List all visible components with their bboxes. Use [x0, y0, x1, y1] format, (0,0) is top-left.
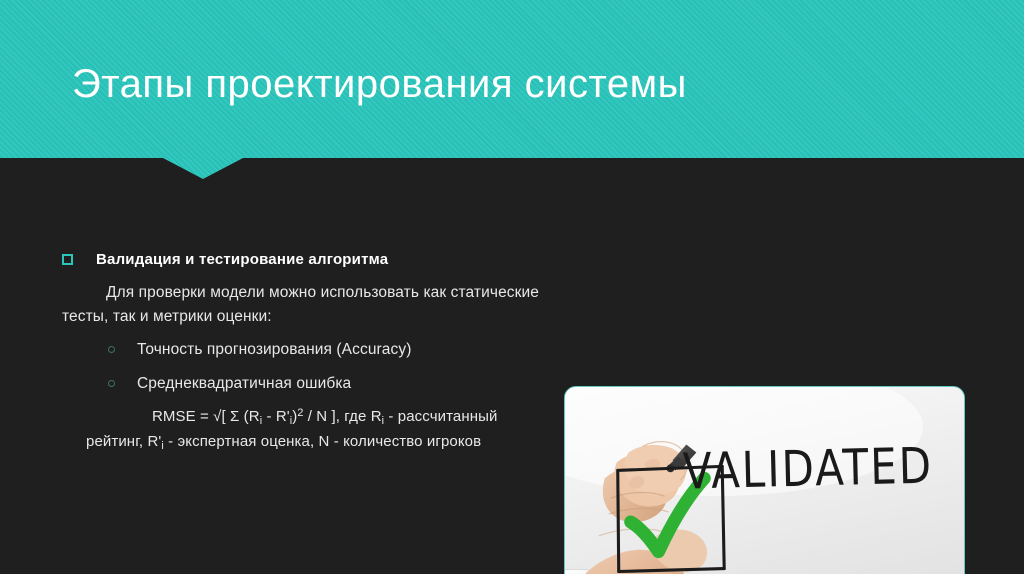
validated-photo: [565, 387, 964, 574]
validated-image-frame: VALIDATED: [564, 386, 965, 574]
intro-paragraph: Для проверки модели можно использовать к…: [62, 281, 542, 329]
list-item-level2: Точность прогнозирования (Accuracy): [108, 339, 542, 361]
square-bullet-icon: [62, 254, 73, 265]
page-title: Этапы проектирования системы: [72, 60, 952, 108]
formula-power: 2: [297, 407, 303, 419]
list-item-level2-label: Точность прогнозирования (Accuracy): [137, 339, 412, 361]
formula-expression: √[ Σ (R: [213, 408, 260, 425]
formula-sub-3: i: [382, 415, 385, 427]
formula-definition-2: - экспертная оценка, N - количество игро…: [164, 433, 481, 450]
list-item-level2: Среднеквадратичная ошибка: [108, 373, 542, 395]
circle-bullet-icon: [108, 380, 115, 387]
list-item-level2-label: Среднеквадратичная ошибка: [137, 373, 351, 395]
formula-sub-4: i: [161, 440, 164, 452]
formula-sub-1: i: [260, 415, 263, 427]
formula-tail: / N ], где R: [303, 408, 381, 425]
rmse-formula: RMSE = √[ Σ (Ri - R'i)2 / N ], где Ri - …: [86, 405, 542, 455]
list-item-level1-label: Валидация и тестирование алгоритма: [96, 250, 388, 270]
presentation-slide: Этапы проектирования системы Валидация и…: [0, 0, 1024, 574]
list-item-level1: Валидация и тестирование алгоритма: [62, 250, 542, 270]
slide-content-area: Валидация и тестирование алгоритма Для п…: [0, 158, 1024, 574]
text-column: Валидация и тестирование алгоритма Для п…: [62, 250, 542, 455]
formula-equals: =: [196, 408, 213, 425]
formula-minus: - R': [262, 408, 290, 425]
formula-sub-2: i: [290, 415, 293, 427]
circle-bullet-icon: [108, 346, 115, 353]
formula-name: RMSE: [152, 408, 196, 425]
